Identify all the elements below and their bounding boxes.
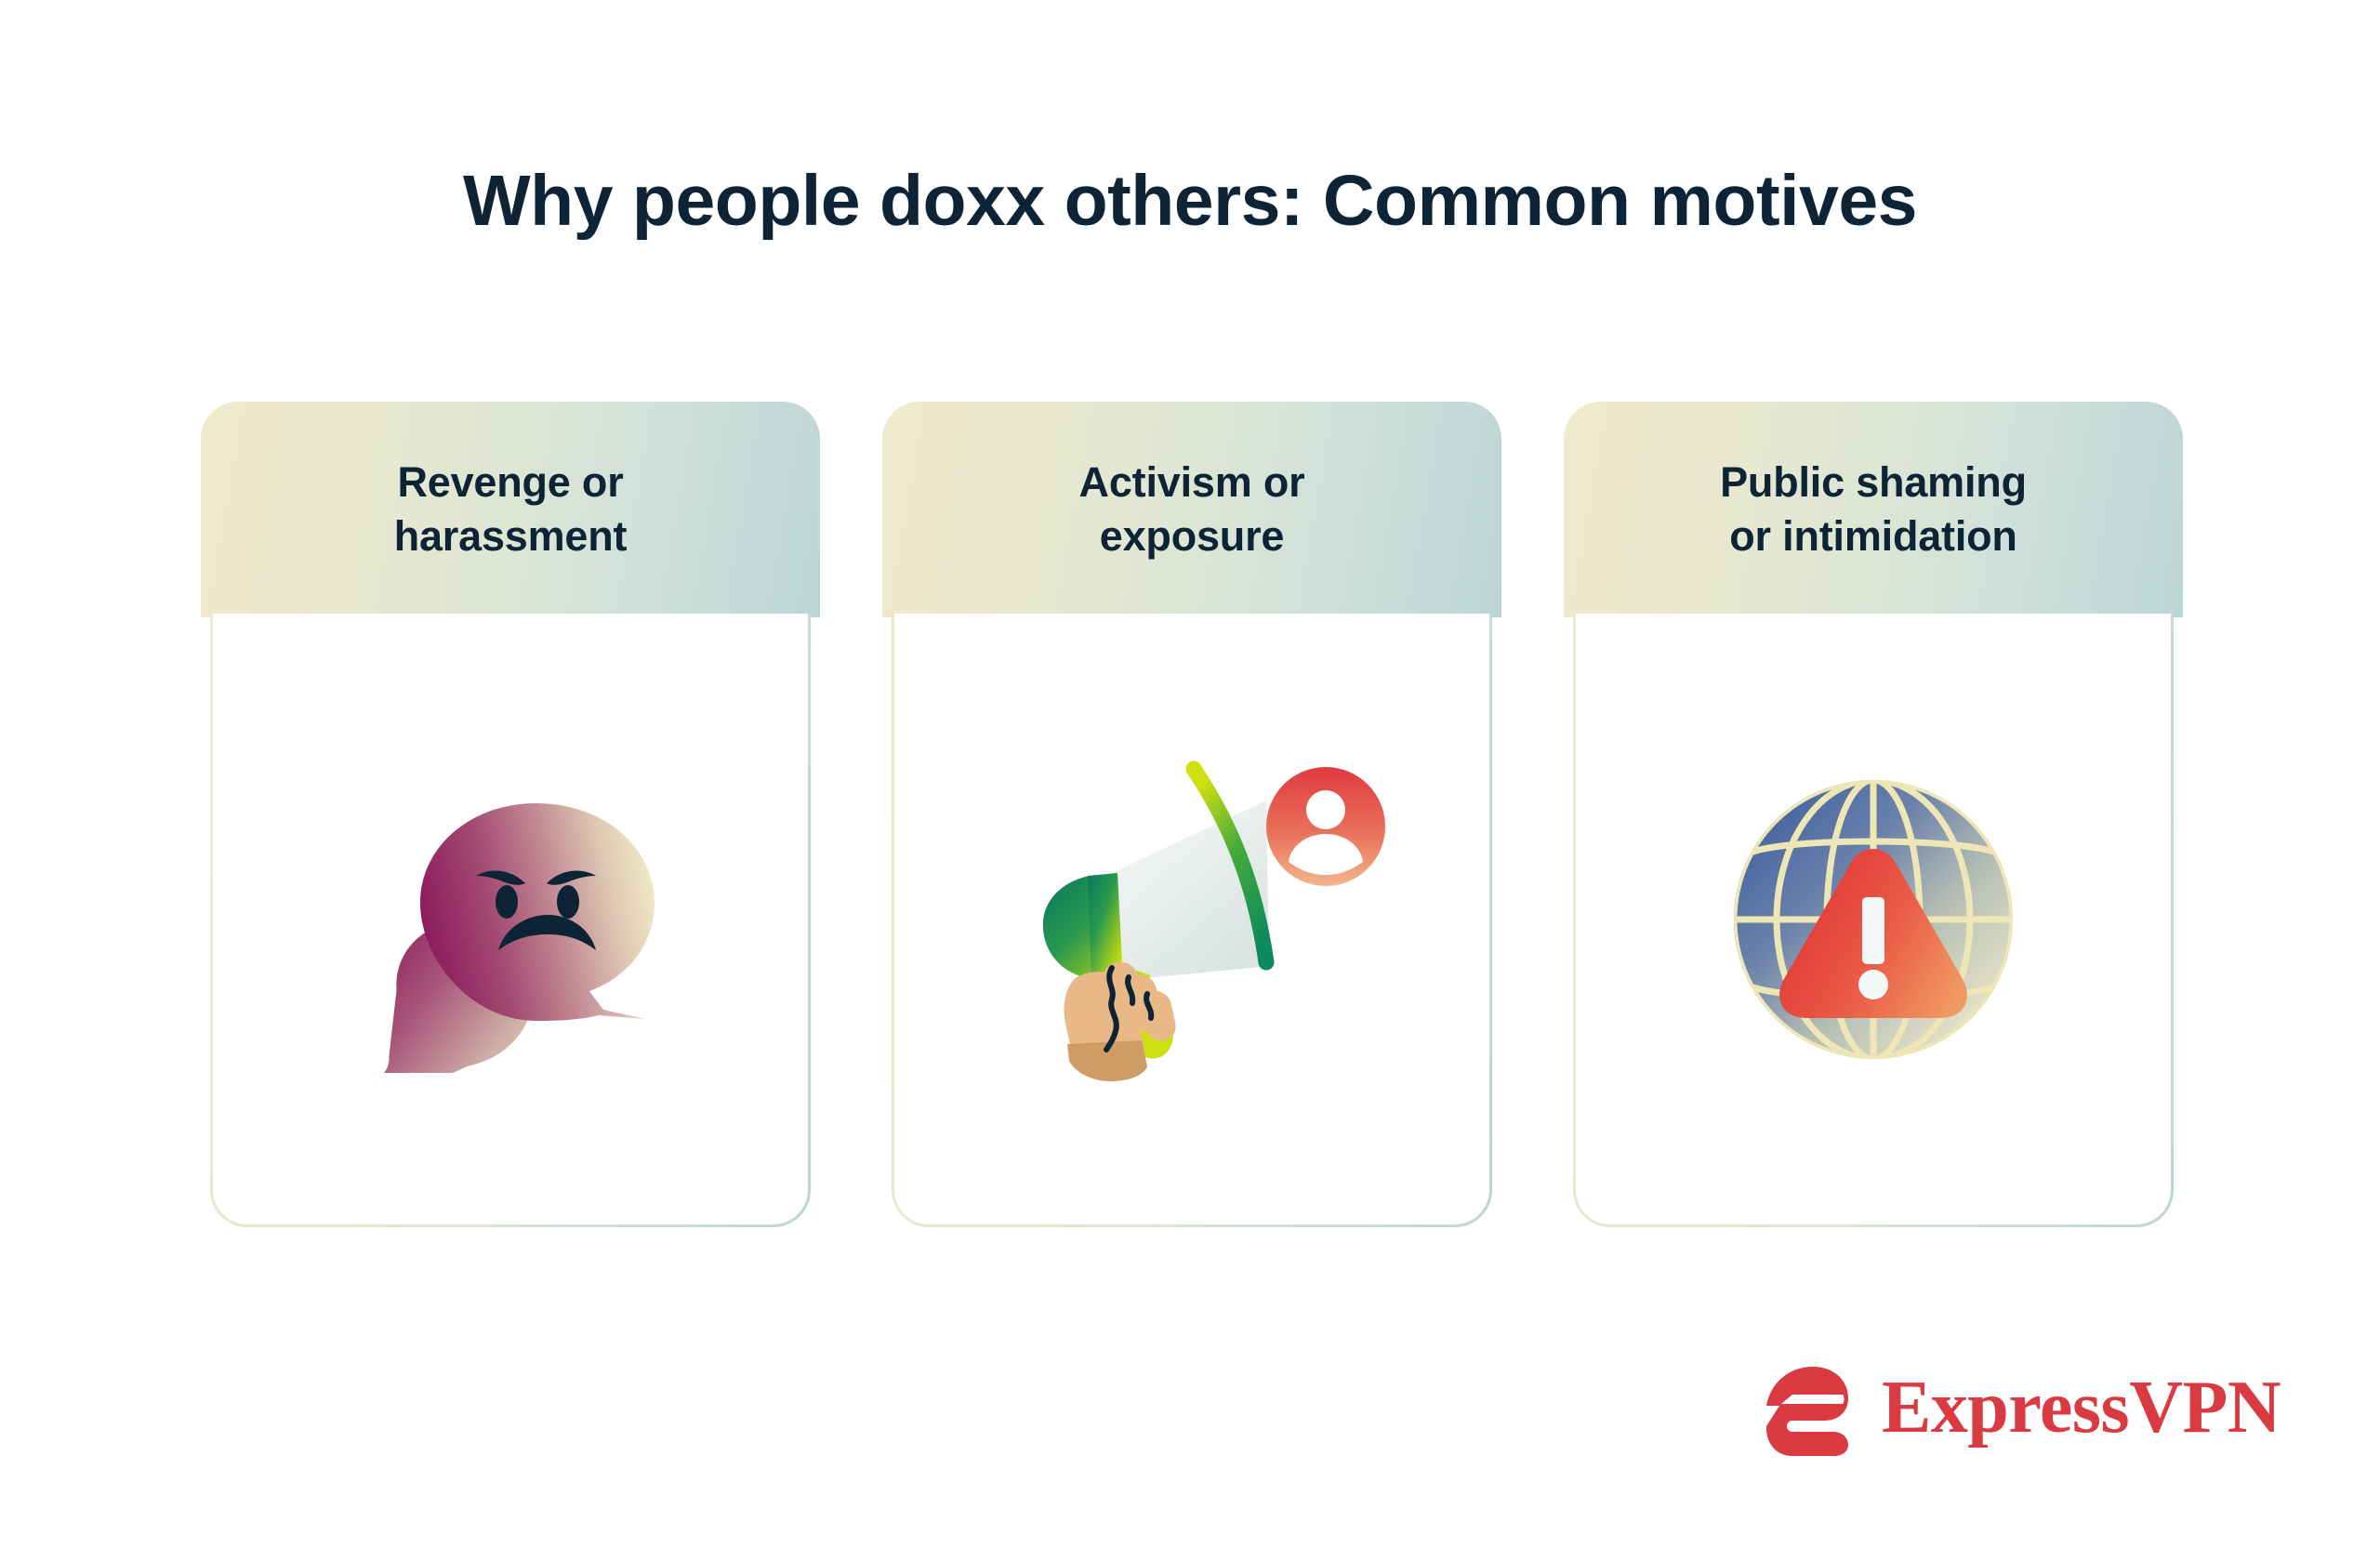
card-header-line-2: or intimidation <box>1729 512 2016 560</box>
infographic-canvas: Why people doxx others: Common motives R… <box>0 0 2380 1561</box>
card-body-activism-or-exposure <box>892 614 1492 1227</box>
user-avatar-icon <box>1266 767 1385 886</box>
card-body-public-shaming-or-intimidation <box>1573 614 2174 1227</box>
illustration-container <box>213 614 808 1224</box>
illustration-container <box>894 614 1489 1224</box>
card-header-line-1: Revenge or <box>397 458 623 506</box>
brand-logo[interactable]: ExpressVPN <box>1765 1359 2281 1456</box>
globe-warning-icon <box>1706 752 2041 1087</box>
card-header-line-1: Public shaming <box>1720 458 2027 506</box>
motive-cards-row: Revenge or harassment <box>201 402 2183 1227</box>
illustration-container <box>1576 614 2171 1224</box>
card-header-line-2: harassment <box>394 512 628 560</box>
card-header-line-2: exposure <box>1100 512 1284 560</box>
motive-card-public-shaming-or-intimidation: Public shaming or intimidation <box>1564 402 2183 1227</box>
eye-left <box>496 885 518 919</box>
brand-wordmark: ExpressVPN <box>1882 1370 2281 1445</box>
warning-exclamation-dot <box>1858 970 1888 999</box>
card-header-activism-or-exposure: Activism or exposure <box>882 402 1501 617</box>
motive-card-revenge-or-harassment: Revenge or harassment <box>201 402 820 1227</box>
page-title: Why people doxx others: Common motives <box>0 160 2380 243</box>
hand-icon <box>1064 961 1176 1080</box>
eye-right <box>557 885 579 919</box>
warning-exclamation-bar <box>1862 897 1884 964</box>
card-body-revenge-or-harassment <box>210 614 811 1227</box>
megaphone-with-user-icon <box>987 743 1396 1096</box>
card-header-label: Public shaming or intimidation <box>1720 456 2027 562</box>
card-header-revenge-or-harassment: Revenge or harassment <box>201 402 820 617</box>
motive-card-activism-or-exposure: Activism or exposure <box>882 402 1501 1227</box>
card-header-public-shaming-or-intimidation: Public shaming or intimidation <box>1564 402 2183 617</box>
card-header-label: Revenge or harassment <box>394 456 628 562</box>
card-header-label: Activism or exposure <box>1079 456 1305 562</box>
expressvpn-logo-icon <box>1765 1359 1861 1456</box>
angry-speech-bubbles-icon <box>324 766 696 1073</box>
card-header-line-1: Activism or <box>1079 458 1305 506</box>
